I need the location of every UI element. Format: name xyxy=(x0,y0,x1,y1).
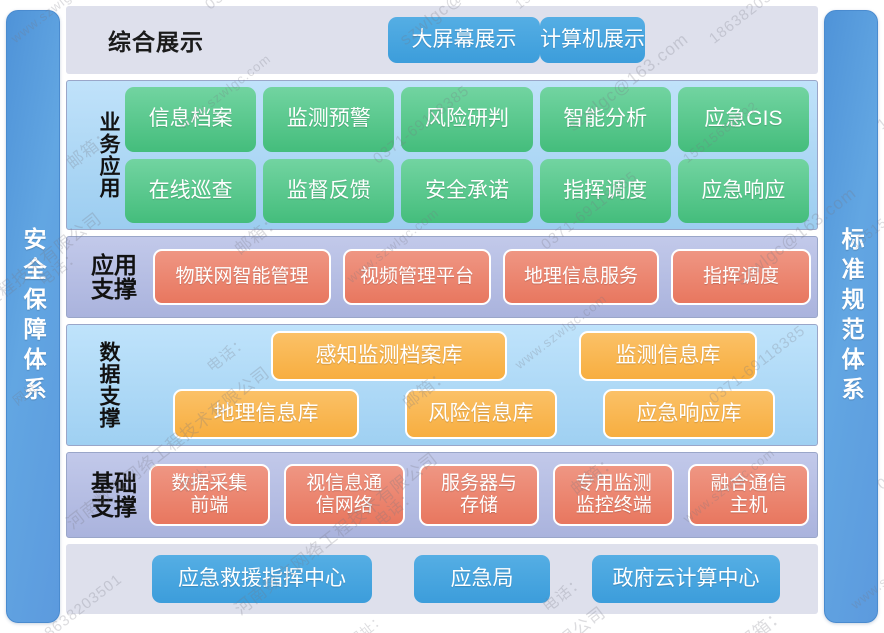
presentation-title: 综合展示 xyxy=(108,23,204,57)
band-label-application-support: 应用 支撑 xyxy=(79,253,149,302)
band-label-infrastructure-support-line2: 支撑 xyxy=(79,495,149,519)
node-online-inspection[interactable]: 在线巡查 xyxy=(125,159,256,224)
node-command-dispatch[interactable]: 指挥调度 xyxy=(540,159,671,224)
organizations-row: 应急救援指挥中心 应急局 政府云计算中心 xyxy=(74,555,810,603)
band-business-application: 业务应用 信息档案 监测预警 风险研判 智能分析 应急GIS 在线巡查 监督反馈… xyxy=(66,80,818,230)
right-pillar-standards-norms: 标准规范体系 xyxy=(824,10,878,623)
node-computer-display[interactable]: 计算机展示 xyxy=(540,17,645,63)
band-infrastructure-support: 基础 支撑 数据采集 前端 视信息通 信网络 服务器与 存储 专用监测 监控终端… xyxy=(66,452,818,538)
architecture-diagram: 安全保障体系 综合展示 大屏幕展示 计算机展示 业务应用 信息档案 监测预警 风… xyxy=(0,0,884,633)
data-support-area: 感知监测档案库 监测信息库 地理信息库 风险信息库 应急响应库 xyxy=(121,329,809,441)
node-risk-information-db[interactable]: 风险信息库 xyxy=(405,389,557,439)
band-label-data-support: 数据支撑 xyxy=(79,341,119,429)
node-command-dispatch-support[interactable]: 指挥调度 xyxy=(671,249,811,305)
band-label-application-support-line1: 应用 xyxy=(79,253,149,277)
band-label-infrastructure-support-line1: 基础 xyxy=(79,471,149,495)
data-support-row-2: 地理信息库 风险信息库 应急响应库 xyxy=(121,388,809,440)
node-emergency-rescue-command-center[interactable]: 应急救援指挥中心 xyxy=(152,555,372,603)
node-information-archive[interactable]: 信息档案 xyxy=(125,87,256,152)
application-support-row: 物联网智能管理 视频管理平台 地理信息服务 指挥调度 xyxy=(153,246,811,308)
band-label-application-support-line2: 支撑 xyxy=(79,277,149,301)
node-monitoring-information-db[interactable]: 监测信息库 xyxy=(579,331,757,381)
node-iot-intelligent-management[interactable]: 物联网智能管理 xyxy=(153,249,331,305)
node-emergency-response[interactable]: 应急响应 xyxy=(678,159,809,224)
node-geographic-information-service[interactable]: 地理信息服务 xyxy=(503,249,659,305)
band-application-support: 应用 支撑 物联网智能管理 视频管理平台 地理信息服务 指挥调度 xyxy=(66,236,818,318)
layer-stack: 综合展示 大屏幕展示 计算机展示 业务应用 信息档案 监测预警 风险研判 智能分… xyxy=(66,6,818,629)
business-node-grid: 信息档案 监测预警 风险研判 智能分析 应急GIS 在线巡查 监督反馈 安全承诺… xyxy=(125,87,809,223)
node-emergency-response-db[interactable]: 应急响应库 xyxy=(603,389,775,439)
node-government-cloud-computing-center[interactable]: 政府云计算中心 xyxy=(592,555,780,603)
node-supervision-feedback[interactable]: 监督反馈 xyxy=(263,159,394,224)
node-monitoring-warning[interactable]: 监测预警 xyxy=(263,87,394,152)
node-dedicated-monitoring-terminal[interactable]: 专用监测 监控终端 xyxy=(553,464,674,526)
node-emergency-management-bureau[interactable]: 应急局 xyxy=(414,555,550,603)
node-data-collection-frontend[interactable]: 数据采集 前端 xyxy=(149,464,270,526)
node-converged-communication-host[interactable]: 融合通信 主机 xyxy=(688,464,809,526)
node-perception-monitoring-archive-db[interactable]: 感知监测档案库 xyxy=(271,331,507,381)
node-video-management-platform[interactable]: 视频管理平台 xyxy=(343,249,491,305)
node-big-screen-display[interactable]: 大屏幕展示 xyxy=(388,17,540,63)
band-organizations: 应急救援指挥中心 应急局 政府云计算中心 xyxy=(66,544,818,614)
infrastructure-row: 数据采集 前端 视信息通 信网络 服务器与 存储 专用监测 监控终端 融合通信 … xyxy=(149,462,809,528)
node-geographic-information-db[interactable]: 地理信息库 xyxy=(173,389,359,439)
node-intelligent-analysis[interactable]: 智能分析 xyxy=(540,87,671,152)
node-safety-commitment[interactable]: 安全承诺 xyxy=(401,159,532,224)
band-presentation: 综合展示 大屏幕展示 计算机展示 xyxy=(66,6,818,74)
band-label-business-application: 业务应用 xyxy=(79,111,119,199)
node-risk-assessment[interactable]: 风险研判 xyxy=(401,87,532,152)
node-video-information-communication-network[interactable]: 视信息通 信网络 xyxy=(284,464,405,526)
presentation-row: 综合展示 大屏幕展示 计算机展示 xyxy=(74,17,810,63)
right-pillar-label: 标准规范体系 xyxy=(839,227,863,407)
left-pillar-security-assurance: 安全保障体系 xyxy=(6,10,60,623)
band-data-support: 数据支撑 感知监测档案库 监测信息库 地理信息库 风险信息库 应急响应库 xyxy=(66,324,818,446)
node-emergency-gis[interactable]: 应急GIS xyxy=(678,87,809,152)
data-support-row-1: 感知监测档案库 监测信息库 xyxy=(121,330,809,382)
node-server-and-storage[interactable]: 服务器与 存储 xyxy=(419,464,540,526)
band-label-infrastructure-support: 基础 支撑 xyxy=(79,471,149,520)
left-pillar-label: 安全保障体系 xyxy=(21,227,45,407)
